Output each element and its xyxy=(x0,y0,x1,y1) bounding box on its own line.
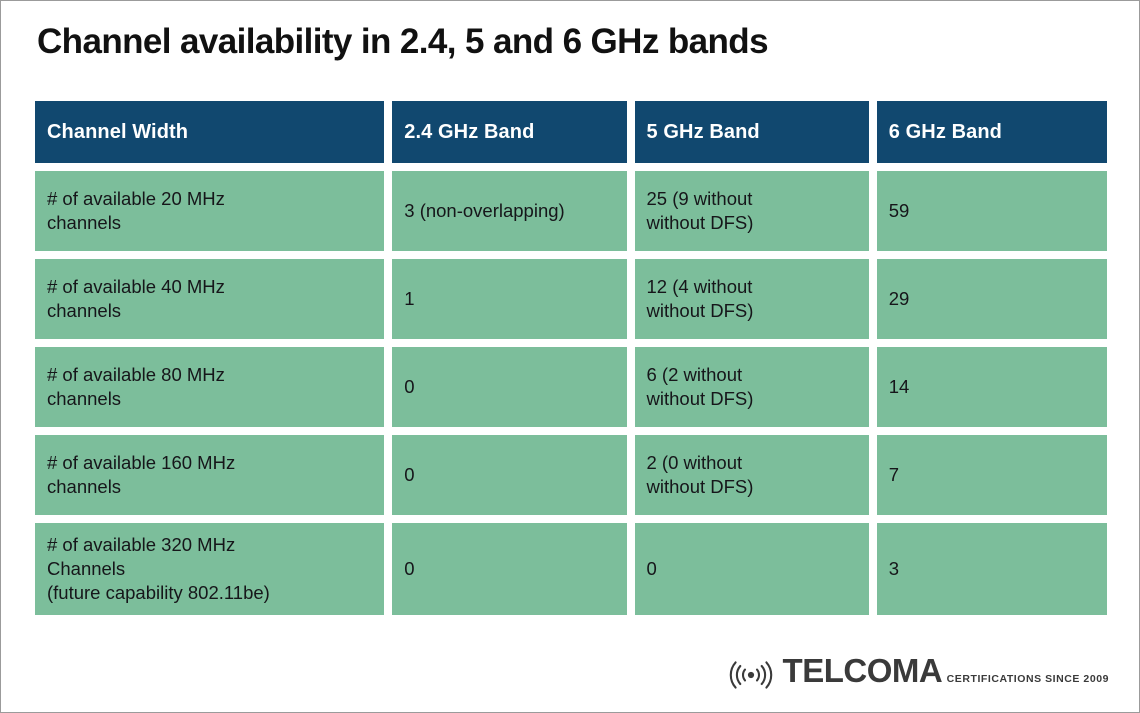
table-cell-channel-width-value: # of available 160 MHz channels xyxy=(47,451,372,499)
table-cell-5ghz-value: 12 (4 without without DFS) xyxy=(647,275,857,323)
table-cell-6ghz: 14 xyxy=(877,347,1107,427)
table-cell-6ghz-value: 14 xyxy=(889,375,1095,399)
table-cell-channel-width: # of available 160 MHz channels xyxy=(35,435,384,515)
table-cell-24ghz: 3 (non-overlapping) xyxy=(392,171,626,251)
table-header-5ghz-band: 5 GHz Band xyxy=(635,101,869,163)
table-cell-5ghz: 25 (9 without without DFS) xyxy=(635,171,869,251)
channel-availability-table: Channel Width 2.4 GHz Band 5 GHz Band 6 … xyxy=(35,101,1107,615)
table-cell-24ghz: 0 xyxy=(392,347,626,427)
table-header-channel-width: Channel Width xyxy=(35,101,384,163)
table-row: # of available 80 MHz channels 0 6 (2 wi… xyxy=(35,347,1107,427)
table-cell-6ghz: 59 xyxy=(877,171,1107,251)
table-cell-channel-width: # of available 40 MHz channels xyxy=(35,259,384,339)
table-cell-24ghz: 0 xyxy=(392,435,626,515)
table-cell-5ghz: 0 xyxy=(635,523,869,615)
table-cell-24ghz-value: 0 xyxy=(404,557,614,581)
table-cell-5ghz: 2 (0 without without DFS) xyxy=(635,435,869,515)
table-cell-5ghz-value: 2 (0 without without DFS) xyxy=(647,451,857,499)
table-row: # of available 320 MHz Channels (future … xyxy=(35,523,1107,615)
table-row: # of available 20 MHz channels 3 (non-ov… xyxy=(35,171,1107,251)
table-header-6ghz-band-label: 6 GHz Band xyxy=(889,119,1095,145)
table-cell-5ghz: 6 (2 without without DFS) xyxy=(635,347,869,427)
table-cell-5ghz-value: 6 (2 without without DFS) xyxy=(647,363,857,411)
table-cell-6ghz: 29 xyxy=(877,259,1107,339)
table-header-24ghz-band-label: 2.4 GHz Band xyxy=(404,119,614,145)
table-cell-channel-width: # of available 20 MHz channels xyxy=(35,171,384,251)
table-cell-24ghz: 0 xyxy=(392,523,626,615)
table-cell-6ghz: 3 xyxy=(877,523,1107,615)
table-cell-24ghz-value: 3 (non-overlapping) xyxy=(404,199,614,223)
table-cell-6ghz: 7 xyxy=(877,435,1107,515)
telcoma-wordmark: TELCOMA xyxy=(783,652,943,689)
table-header-6ghz-band: 6 GHz Band xyxy=(877,101,1107,163)
telcoma-logo: TELCOMA CERTIFICATIONS SINCE 2009 xyxy=(724,654,1109,690)
page-title: Channel availability in 2.4, 5 and 6 GHz… xyxy=(37,21,1077,63)
telcoma-logo-text: TELCOMA CERTIFICATIONS SINCE 2009 xyxy=(783,654,1109,687)
table-cell-channel-width-value: # of available 320 MHz Channels (future … xyxy=(47,533,372,605)
table-cell-24ghz-value: 0 xyxy=(404,463,614,487)
table-header-channel-width-label: Channel Width xyxy=(47,119,372,145)
table-cell-24ghz-value: 1 xyxy=(404,287,614,311)
table-cell-6ghz-value: 59 xyxy=(889,199,1095,223)
table-cell-24ghz: 1 xyxy=(392,259,626,339)
table-cell-5ghz-value: 25 (9 without without DFS) xyxy=(647,187,857,235)
table-cell-channel-width: # of available 320 MHz Channels (future … xyxy=(35,523,384,615)
table-cell-channel-width-value: # of available 80 MHz channels xyxy=(47,363,372,411)
table-cell-5ghz-value: 0 xyxy=(647,557,857,581)
table-header-24ghz-band: 2.4 GHz Band xyxy=(392,101,626,163)
table-cell-24ghz-value: 0 xyxy=(404,375,614,399)
wireless-signal-icon xyxy=(724,660,778,690)
table-row: # of available 160 MHz channels 0 2 (0 w… xyxy=(35,435,1107,515)
table-cell-6ghz-value: 3 xyxy=(889,557,1095,581)
table-row: # of available 40 MHz channels 1 12 (4 w… xyxy=(35,259,1107,339)
table-header-row: Channel Width 2.4 GHz Band 5 GHz Band 6 … xyxy=(35,101,1107,163)
table-cell-5ghz: 12 (4 without without DFS) xyxy=(635,259,869,339)
table-header-5ghz-band-label: 5 GHz Band xyxy=(647,119,857,145)
table-cell-channel-width: # of available 80 MHz channels xyxy=(35,347,384,427)
table-cell-6ghz-value: 29 xyxy=(889,287,1095,311)
table-cell-channel-width-value: # of available 20 MHz channels xyxy=(47,187,372,235)
slide-canvas: Channel availability in 2.4, 5 and 6 GHz… xyxy=(0,0,1140,713)
telcoma-tagline: CERTIFICATIONS SINCE 2009 xyxy=(947,673,1109,685)
table-cell-6ghz-value: 7 xyxy=(889,463,1095,487)
table-cell-channel-width-value: # of available 40 MHz channels xyxy=(47,275,372,323)
